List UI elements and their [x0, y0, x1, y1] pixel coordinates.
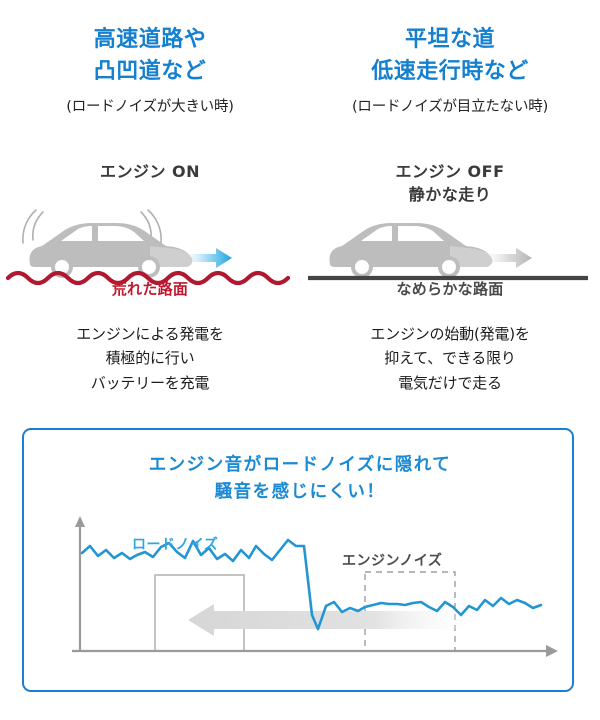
panel-right-heading-line1: 平坦な道 [405, 27, 495, 52]
callout-box: エンジン音がロードノイズに隠れて 騒音を感じにくい！ ロードノイズ エンジンノイ… [22, 428, 574, 692]
car-side-icon [30, 223, 193, 278]
panel-left-heading: 高速道路や 凸凹道など [0, 24, 300, 88]
panel-right-heading-line2: 低速走行時など [300, 56, 600, 88]
car-side-icon [330, 223, 493, 278]
panel-left-engine-state-line1: エンジン ON [100, 162, 200, 181]
panel-right-road-label: なめらかな路面 [300, 278, 600, 299]
panel-left-road-label: 荒れた路面 [0, 278, 300, 299]
panel-right-body-line2: 抑えて、できる限り [300, 346, 600, 370]
panel-left-body-line2: 積極的に行い [0, 346, 300, 370]
panel-right-subheading: (ロードノイズが目立たない時) [300, 98, 600, 117]
panel-left-body-line3: バッテリーを充電 [0, 371, 300, 395]
panel-right-body-line1: エンジンの始動(発電)を [300, 322, 600, 346]
panel-right-heading: 平坦な道 低速走行時など [300, 24, 600, 88]
panel-left-heading-line2: 凸凹道など [0, 56, 300, 88]
panel-left: 高速道路や 凸凹道など (ロードノイズが大きい時) エンジン ON [0, 0, 300, 420]
panel-left-heading-line1: 高速道路や [94, 27, 207, 52]
panel-right: 平坦な道 低速走行時など (ロードノイズが目立たない時) エンジン OFF 静か… [300, 0, 600, 420]
chart-annotation-engine-noise: エンジンノイズ [342, 550, 442, 570]
panel-left-body-line1: エンジンによる発電を [0, 322, 300, 346]
noise-chart: ロードノイズ エンジンノイズ [24, 512, 576, 688]
panel-right-engine-state-line1: エンジン OFF [395, 162, 504, 181]
noise-chart-svg [24, 512, 576, 688]
chart-x-axis [72, 645, 558, 657]
callout-title-line2: 騒音を感じにくい！ [24, 479, 576, 506]
callout-title: エンジン音がロードノイズに隠れて 騒音を感じにくい！ [24, 452, 576, 506]
chart-y-axis [75, 516, 85, 651]
callout-title-line1: エンジン音がロードノイズに隠れて [24, 452, 576, 479]
panel-left-engine-state: エンジン ON [0, 160, 300, 183]
infographic-root: 高速道路や 凸凹道など (ロードノイズが大きい時) エンジン ON [0, 0, 600, 720]
panel-left-subheading: (ロードノイズが大きい時) [0, 98, 300, 117]
panel-right-body: エンジンの始動(発電)を 抑えて、できる限り 電気だけで走る [300, 322, 600, 395]
panel-right-body-line3: 電気だけで走る [300, 371, 600, 395]
panel-left-body: エンジンによる発電を 積極的に行い バッテリーを充電 [0, 322, 300, 395]
chart-annotation-road-noise: ロードノイズ [132, 534, 218, 554]
